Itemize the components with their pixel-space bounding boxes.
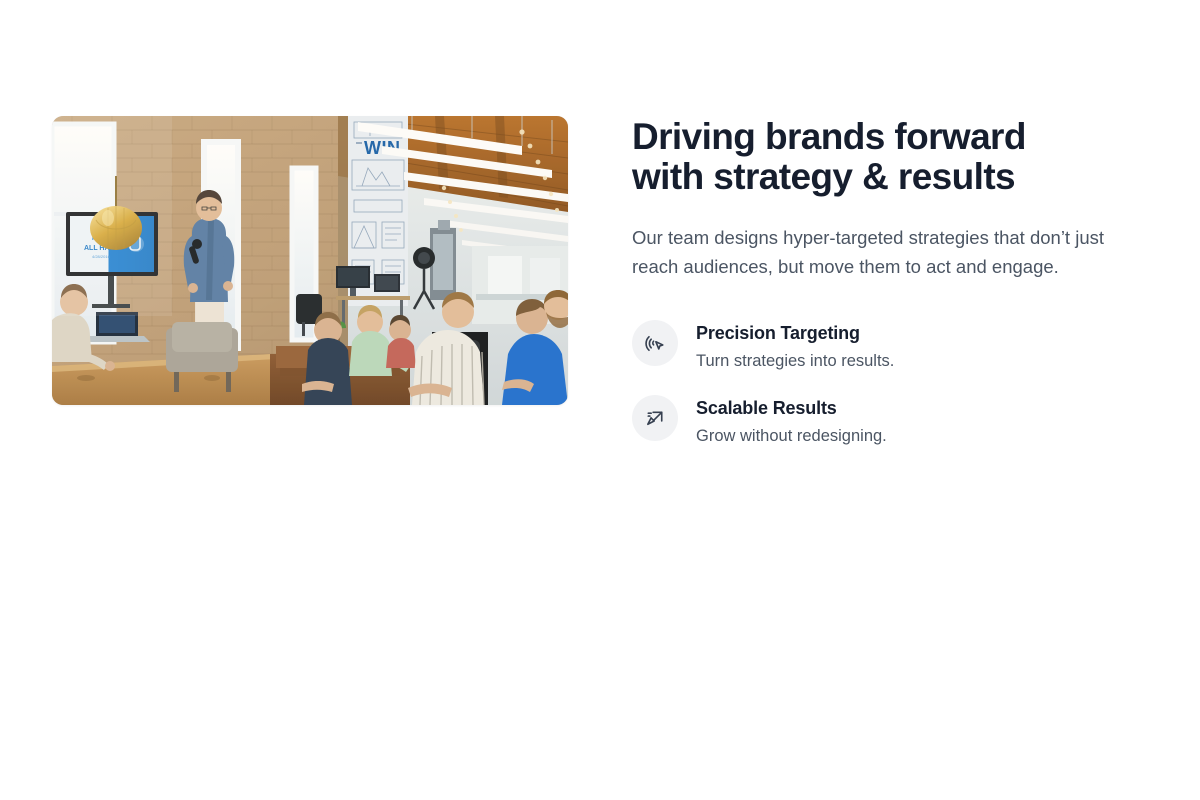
page-title: Driving brands forward with strategy & r… [632, 117, 1132, 197]
hero-copy-column: Driving brands forward with strategy & r… [632, 116, 1148, 447]
feature-list: Precision Targeting Turn strategies into… [632, 319, 1148, 447]
headline-line-2: with strategy & results [632, 157, 1132, 197]
office-allhands-photo: WIN [52, 116, 568, 405]
scale-arrow-icon [632, 395, 678, 441]
hero-subcopy: Our team designs hyper-targeted strategi… [632, 223, 1148, 281]
feature-text-group: Scalable Results Grow without redesignin… [696, 394, 887, 447]
feature-title: Precision Targeting [696, 322, 894, 344]
feature-description: Grow without redesigning. [696, 426, 887, 447]
tap-target-icon [632, 320, 678, 366]
hero-two-column-layout: WIN [52, 116, 1148, 447]
feature-item-scalable-results: Scalable Results Grow without redesignin… [632, 394, 1148, 447]
headline-line-1: Driving brands forward [632, 116, 1026, 157]
hero-section-page: WIN [0, 0, 1200, 800]
feature-text-group: Precision Targeting Turn strategies into… [696, 319, 894, 372]
feature-title: Scalable Results [696, 397, 887, 419]
feature-description: Turn strategies into results. [696, 351, 894, 372]
hero-media-column: WIN [52, 116, 568, 405]
feature-item-precision-targeting: Precision Targeting Turn strategies into… [632, 319, 1148, 372]
